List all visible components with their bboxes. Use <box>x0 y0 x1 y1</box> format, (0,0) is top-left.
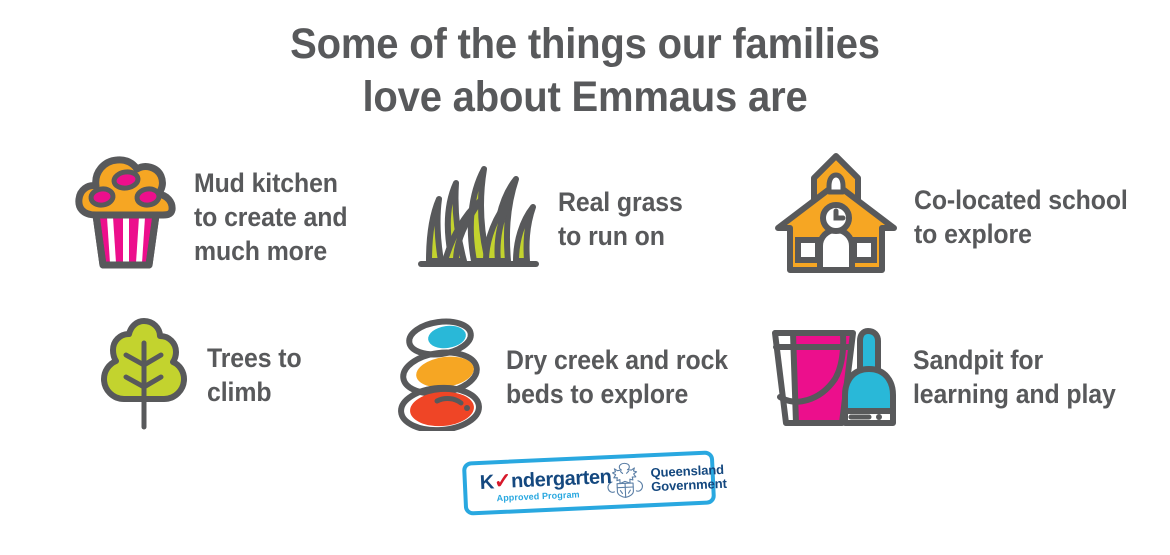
stacked-stones-icon <box>390 317 490 436</box>
feature-label-mud-kitchen: Mud kitchen to create and much more <box>194 166 347 268</box>
kindergarten-wordmark: K✓ndergarten <box>479 467 598 492</box>
feature-item-mud-kitchen: Mud kitchen to create and much more <box>72 153 361 280</box>
muffin-icon <box>72 153 180 280</box>
badge-frame: K✓ndergarten Approved Program <box>462 450 716 515</box>
feature-label-rock-beds: Dry creek and rock beds to explore <box>506 343 728 411</box>
page-title-line-2: love about Emmaus are <box>41 71 1129 124</box>
feature-item-school: Co-located school to explore <box>772 150 1146 283</box>
page-title-line-1: Some of the things our families <box>41 18 1129 71</box>
tree-icon <box>95 313 193 436</box>
feature-label-sandpit: Sandpit for learning and play <box>913 343 1116 411</box>
school-icon <box>772 150 900 283</box>
check-icon: ✓ <box>493 469 511 493</box>
feature-item-real-grass: Real grass to run on <box>412 157 694 280</box>
feature-label-school: Co-located school to explore <box>914 183 1128 251</box>
feature-list: Mud kitchen to create and much more <box>0 145 1170 445</box>
feature-item-rock-beds: Dry creek and rock beds to explore <box>390 317 747 436</box>
bucket-spade-icon <box>765 315 899 438</box>
kindergarten-approved-program-badge: K✓ndergarten Approved Program <box>463 456 725 528</box>
feature-item-sandpit: Sandpit for learning and play <box>765 315 1133 438</box>
grass-icon <box>412 157 542 280</box>
page-title: Some of the things our families love abo… <box>41 18 1129 124</box>
feature-label-trees: Trees to climb <box>207 341 302 409</box>
feature-label-real-grass: Real grass to run on <box>558 185 683 253</box>
kindergarten-prefix: K <box>479 471 494 494</box>
queensland-government-text: Queensland Government <box>650 463 727 494</box>
kindergarten-suffix: ndergarten <box>511 465 612 492</box>
kindergarten-lockup: K✓ndergarten Approved Program <box>479 467 598 503</box>
feature-item-trees: Trees to climb <box>95 313 310 436</box>
queensland-government-lockup: Queensland Government <box>603 454 727 505</box>
infographic-page: Some of the things our families love abo… <box>0 0 1170 555</box>
